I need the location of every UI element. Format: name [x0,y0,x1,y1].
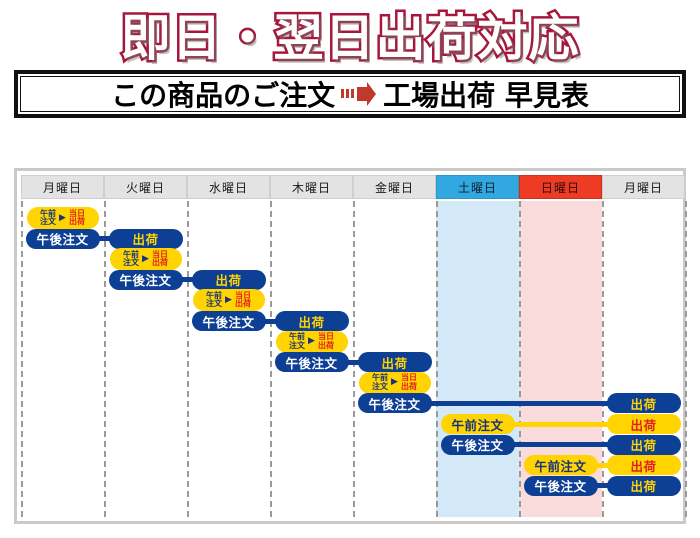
column-separator [602,201,604,517]
right-arrow-icon: ▶ [59,214,66,223]
order-label: 午前注文 [40,210,56,227]
ship-pill: 出荷 [192,270,266,290]
ship-pill: 出荷 [607,455,681,475]
ship-pill: 出荷 [109,229,183,249]
column-separator [519,201,521,517]
ship-pill: 出荷 [607,435,681,455]
schedule-table-frame: 月曜日火曜日水曜日木曜日金曜日土曜日日曜日月曜日午前注文▶当日出荷午後注文出荷午… [14,168,686,524]
ship-pill: 出荷 [607,476,681,496]
ship-result-label: 当日出荷 [318,333,334,350]
order-result-pill: 午前注文▶当日出荷 [110,248,182,270]
order-label: 午前注文 [123,251,139,268]
connector-line [418,401,621,406]
right-arrow-icon: ▶ [391,378,398,387]
order-pill: 午後注文 [192,311,266,331]
order-pill: 午後注文 [275,352,349,372]
column-separator [436,201,438,517]
subheadline-inner: この商品のご注文 工場出荷 早見表 [20,76,680,112]
column-header-7: 日曜日 [519,175,602,199]
column-header-4: 木曜日 [270,175,353,199]
column-band-saturday [436,201,519,517]
column-header-1: 月曜日 [21,175,104,199]
column-header-6: 土曜日 [436,175,519,199]
ship-result-label: 当日出荷 [235,292,251,309]
order-pill: 午後注文 [524,476,598,496]
ship-pill: 出荷 [607,414,681,434]
subheadline-after-arrow: 工場出荷 早見表 [383,74,589,114]
order-pill: 午前注文 [441,414,515,434]
order-label: 午前注文 [289,333,305,350]
column-header-2: 火曜日 [104,175,187,199]
subheadline-box: この商品のご注文 工場出荷 早見表 [14,70,686,118]
column-header-8: 月曜日 [602,175,685,199]
column-separator [104,201,106,517]
order-label: 午前注文 [206,292,222,309]
column-header-3: 水曜日 [187,175,270,199]
ship-pill: 出荷 [275,311,349,331]
schedule-grid: 月曜日火曜日水曜日木曜日金曜日土曜日日曜日月曜日午前注文▶当日出荷午後注文出荷午… [21,175,679,517]
right-arrow-icon: ▶ [142,255,149,264]
order-pill: 午前注文 [524,455,598,475]
dashed-right-arrow-icon [341,81,377,107]
ship-result-label: 当日出荷 [69,210,85,227]
order-result-pill: 午前注文▶当日出荷 [276,331,348,353]
column-separator [270,201,272,517]
column-separator [685,201,687,517]
ship-pill: 出荷 [607,393,681,413]
order-pill: 午後注文 [441,435,515,455]
main-headline-text: 即日・翌日出荷対応 [121,8,580,68]
column-header-5: 金曜日 [353,175,436,199]
order-pill: 午後注文 [26,229,100,249]
ship-result-label: 当日出荷 [152,251,168,268]
connector-line [501,422,621,427]
ship-result-label: 当日出荷 [401,374,417,391]
column-separator [21,201,23,517]
order-label: 午前注文 [372,374,388,391]
order-result-pill: 午前注文▶当日出荷 [193,289,265,311]
right-arrow-icon: ▶ [308,337,315,346]
right-arrow-icon: ▶ [225,296,232,305]
main-headline: 即日・翌日出荷対応 [0,0,700,70]
order-result-pill: 午前注文▶当日出荷 [27,207,99,229]
order-pill: 午後注文 [109,270,183,290]
ship-pill: 出荷 [358,352,432,372]
subheadline-before-arrow: この商品のご注文 [111,74,335,114]
order-result-pill: 午前注文▶当日出荷 [359,372,431,394]
order-pill: 午後注文 [358,393,432,413]
column-separator [187,201,189,517]
connector-line [501,442,621,447]
